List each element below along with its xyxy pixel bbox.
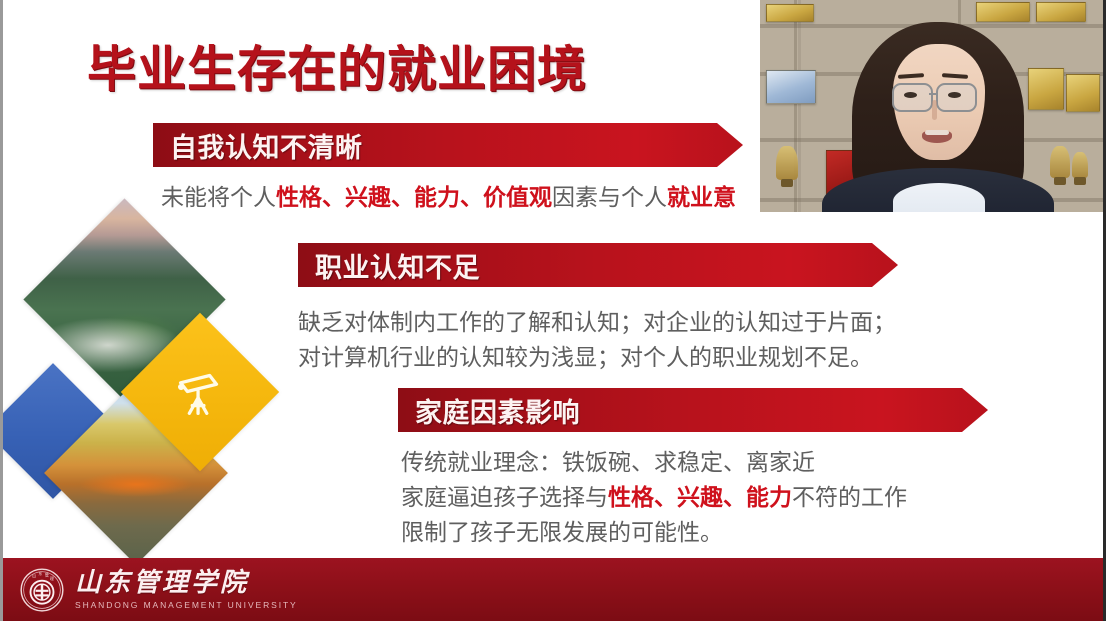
- body-line: 限制了孩子无限发展的可能性。: [401, 515, 907, 550]
- presenter-eye-right: [948, 92, 961, 98]
- telescope-icon: [144, 336, 256, 448]
- body-run: 限制了孩子无限发展的可能性。: [401, 519, 723, 545]
- video-bottom-gap: [760, 212, 1106, 215]
- body-line: 缺乏对体制内工作的了解和认知；对企业的认知过于片面；: [298, 305, 896, 340]
- highlighted-keyword: 性格、兴趣、能力: [608, 484, 792, 510]
- highlighted-keyword: 性格、兴趣、能力、价值观: [276, 184, 552, 210]
- university-branding: 山东 管理 山东管理学院 SHANDONG MANAGEMENT UNIVERS…: [3, 567, 298, 613]
- body-line: 对计算机行业的认知较为浅显；对个人的职业规划不足。: [298, 340, 896, 375]
- presenter-nose: [932, 100, 937, 120]
- body-run: 家庭逼迫孩子选择与: [401, 484, 608, 510]
- section-banner-self-cognition: 自我认知不清晰: [153, 123, 743, 167]
- university-name-en: SHANDONG MANAGEMENT UNIVERSITY: [75, 601, 298, 610]
- svg-text:山: 山: [32, 572, 36, 578]
- section-body-career-cognition: 缺乏对体制内工作的了解和认知；对企业的认知过于片面；对计算机行业的认知较为浅显；…: [298, 305, 896, 375]
- university-name-cn: 山东管理学院: [75, 570, 298, 596]
- svg-text:东: 东: [38, 569, 42, 575]
- diamond-decoration-cluster: [0, 218, 284, 548]
- presentation-screen: 毕业生存在的就业困境: [0, 0, 1106, 621]
- body-line: 家庭逼迫孩子选择与性格、兴趣、能力不符的工作: [401, 480, 907, 515]
- svg-text:理: 理: [50, 574, 54, 580]
- presenter-teeth: [925, 130, 949, 135]
- body-run: 因素与个人: [552, 184, 667, 210]
- body-run: 对计算机行业的认知较为浅显；对个人的职业规划不足。: [298, 344, 873, 370]
- section-body-family-factors: 传统就业理念：铁饭碗、求稳定、离家近家庭逼迫孩子选择与性格、兴趣、能力不符的工作…: [401, 445, 907, 550]
- slide-footer: 山东 管理 山东管理学院 SHANDONG MANAGEMENT UNIVERS…: [3, 558, 1103, 621]
- body-line: 未能将个人性格、兴趣、能力、价值观因素与个人就业意: [161, 180, 736, 215]
- presenter-webcam-feed[interactable]: [760, 0, 1106, 212]
- body-run: 缺乏对体制内工作的了解和认知；对企业的认知过于片面；: [298, 309, 896, 335]
- section-banner-family-factors: 家庭因素影响: [398, 388, 988, 432]
- section-banner-career-cognition: 职业认知不足: [298, 243, 898, 287]
- banner-label: 自我认知不清晰: [153, 126, 363, 165]
- body-run: 未能将个人: [161, 184, 276, 210]
- eyeglasses-bridge: [929, 93, 937, 95]
- page-title: 毕业生存在的就业困境: [87, 30, 587, 101]
- body-run: 不符的工作: [792, 484, 907, 510]
- body-line: 传统就业理念：铁饭碗、求稳定、离家近: [401, 445, 907, 480]
- university-emblem-icon: 山东 管理: [19, 567, 65, 613]
- presenter-shirt: [893, 183, 985, 212]
- banner-label: 职业认知不足: [298, 246, 480, 285]
- banner-label: 家庭因素影响: [398, 391, 580, 430]
- body-run: 传统就业理念：铁饭碗、求稳定、离家近: [401, 449, 815, 475]
- section-body-self-cognition: 未能将个人性格、兴趣、能力、价值观因素与个人就业意: [161, 180, 736, 215]
- svg-text:管: 管: [45, 571, 49, 577]
- presenter-eye-left: [904, 92, 917, 98]
- highlighted-keyword: 就业意: [667, 184, 736, 210]
